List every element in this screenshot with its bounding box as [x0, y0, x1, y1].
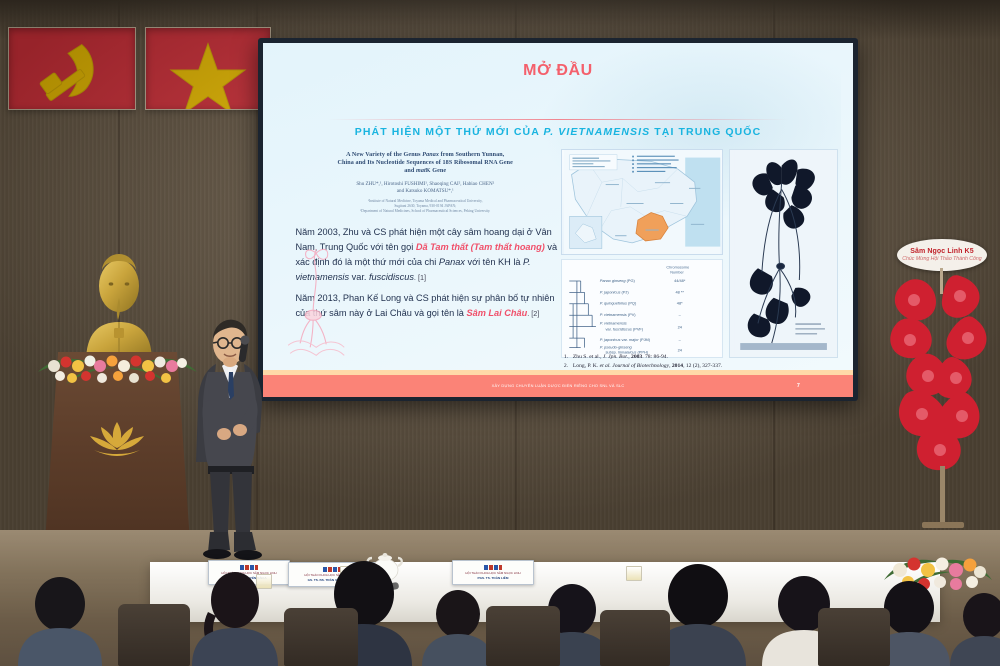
- taxon-label: P. vietnamensis: [600, 321, 627, 326]
- subtitle-prefix: PHÁT HIỆN MỘT THỨ MỚI CỦA: [355, 126, 544, 138]
- organization-logo-icon: [483, 565, 503, 570]
- paper-title-part5: K Gene: [426, 168, 446, 174]
- nameplate-org: HỘI THẢO KHOA HỌC SÂM NGỌC LINH: [465, 571, 520, 575]
- p1-ref: . [1]: [414, 273, 426, 282]
- ref1-year: 2003: [631, 354, 642, 360]
- slide-title: MỞ ĐẦU: [263, 62, 853, 80]
- lotus-emblem-icon: [84, 418, 150, 458]
- map-of-china: [562, 150, 722, 254]
- ref1-num: 1.: [564, 353, 573, 362]
- p1-highlight: Dã Tam thất (Tam thất hoang): [416, 242, 545, 252]
- audience-member: [0, 576, 120, 666]
- chromosome-value: 44/48*: [674, 278, 686, 283]
- affiliation-line3: ²Department of Natural Medicines, School…: [360, 209, 490, 213]
- affiliation-line2: Sugitani 2630, Toyama, 930-0194 JAPAN;: [394, 204, 456, 208]
- taxon-label: var. fuscidiscus (PVF): [605, 326, 643, 331]
- speaker-presenter: [178, 312, 282, 560]
- reference-item-1: 1.Zhu S. et al., J. Jpn. Bot., 2003. 78:…: [564, 353, 841, 362]
- ref2-a: Long, P. K.: [573, 363, 600, 369]
- taxon-label: P. japonicus (PJ): [600, 289, 630, 294]
- taxon-label: Panax ginseng (PG): [600, 278, 636, 283]
- paper-authors-line2: and Katsuko KOMATSU*,¹: [397, 188, 454, 194]
- p1-variety: fuscidiscus: [369, 272, 414, 282]
- ref1-a: Zhu S. et al.,: [573, 354, 603, 360]
- presentation-screen[interactable]: MỞ ĐẦU PHÁT HIỆN MỘT THỨ MỚI CỦA P. VIET…: [258, 38, 858, 401]
- paper-title-part1: A New Variety of the Genus: [346, 152, 422, 158]
- ref1-c: . 78: 86-94.: [642, 354, 668, 360]
- chromosome-header-line2: Number: [670, 270, 684, 274]
- sign-line1: Sâm Ngọc Linh K5: [910, 248, 973, 255]
- slide-page-number: 7: [797, 383, 800, 389]
- audience-chair: [818, 608, 890, 666]
- congratulation-sign: Sâm Ngọc Linh K5 Chúc Mừng Hội Thảo Thàn…: [897, 239, 987, 271]
- slide-subtitle: PHÁT HIỆN MỘT THỨ MỚI CỦA P. VIETNAMENSI…: [263, 126, 853, 138]
- ref2-year: 2014: [672, 363, 683, 369]
- paper-title-part4: and: [404, 168, 416, 174]
- footer-text: XÂY DỰNG CHUYÊN LUẬN DƯỢC ĐIỂN RIÊNG CHO…: [492, 383, 625, 388]
- taxon-label: P. quinquefolius (PQ): [600, 301, 637, 306]
- paper-authors-line1: Shu ZHU*,¹, Hirotoshi FUSHIMI¹, Shaoqing…: [356, 181, 494, 187]
- title-divider: [328, 119, 788, 120]
- audience-chair: [284, 608, 358, 666]
- slide-content: MỞ ĐẦU PHÁT HIỆN MỘT THỨ MỚI CỦA P. VIET…: [263, 43, 853, 397]
- audience-chair: [118, 604, 190, 666]
- audience-member: [176, 570, 294, 666]
- subtitle-suffix: TẠI TRUNG QUỐC: [650, 126, 761, 138]
- slide-references: 1.Zhu S. et al., J. Jpn. Bot., 2003. 78:…: [564, 353, 841, 370]
- taxon-label: P. vietnamensis (PV): [600, 312, 637, 317]
- paper-title-part2: from Southern Yunnan,: [439, 152, 504, 158]
- p2-highlight: Sâm Lai Châu: [466, 308, 527, 318]
- paper-title: A New Variety of the Genus Panax from So…: [295, 151, 555, 176]
- podium-flower-arrangement: [36, 338, 199, 390]
- flower-stand-right: [888, 270, 1000, 530]
- subtitle-species: P. VIETNAMENSIS: [544, 126, 651, 138]
- conference-hall-scene: MỞ ĐẦU PHÁT HIỆN MỘT THỨ MỚI CỦA P. VIET…: [0, 0, 1000, 666]
- paper-title-part3: China and Its Nucleotide Sequences of 18…: [338, 160, 513, 166]
- chromosome-value: 48 **: [675, 289, 684, 294]
- paper-title-gene: mat: [416, 168, 426, 174]
- sign-line2: Chúc Mừng Hội Thảo Thành Công: [902, 256, 981, 262]
- chromosome-header-line1: Chromosome: [666, 266, 689, 270]
- phylogenetic-tree: Chromosome Number Panax ginseng (PG) P. …: [562, 260, 722, 357]
- chromosome-value: 48*: [677, 301, 683, 306]
- panax-specimen-photo: [730, 150, 837, 357]
- affiliation-line1: ¹Institute of Natural Medicine, Toyama M…: [368, 199, 483, 203]
- audience-chair: [486, 606, 560, 666]
- ref2-c: , 12 (2), 327-337.: [683, 363, 722, 369]
- ginseng-decoration-icon: [269, 241, 363, 361]
- audience-chair: [600, 610, 670, 666]
- slide-footer: XÂY DỰNG CHUYÊN LUẬN DƯỢC ĐIỂN RIÊNG CHO…: [263, 375, 853, 397]
- organization-logo-icon: [239, 565, 259, 570]
- herbarium-specimen-figure: [729, 149, 838, 358]
- nameplate-title: PGS. TS. TOÀN LIÊM: [478, 576, 509, 580]
- paper-authors: Shu ZHU*,¹, Hirotoshi FUSHIMI¹, Shaoqing…: [295, 181, 555, 195]
- phylogenetic-tree-figure: Chromosome Number Panax ginseng (PG) P. …: [561, 259, 723, 358]
- ref2-num: 2.: [564, 362, 573, 371]
- reference-item-2: 2.Long, P. K. et al. Journal of Biotechn…: [564, 362, 841, 371]
- taxon-label: P. japonicus var. major (PJM): [600, 337, 651, 342]
- p2-ref: . [2]: [527, 309, 539, 318]
- paper-title-genus: Panax: [422, 152, 439, 158]
- ref1-journal: J. Jpn. Bot.: [603, 354, 628, 360]
- p1-genus: Panax: [439, 257, 465, 267]
- audience-member: [944, 592, 1000, 666]
- ref2-journal: et al. Journal of Biotechnology: [600, 363, 669, 369]
- p1-part-c: với tên KH là: [465, 257, 523, 267]
- china-map-figure: [561, 149, 723, 255]
- paper-reference-block: A New Variety of the Genus Panax from So…: [295, 151, 555, 215]
- paper-affiliation: ¹Institute of Natural Medicine, Toyama M…: [295, 199, 555, 215]
